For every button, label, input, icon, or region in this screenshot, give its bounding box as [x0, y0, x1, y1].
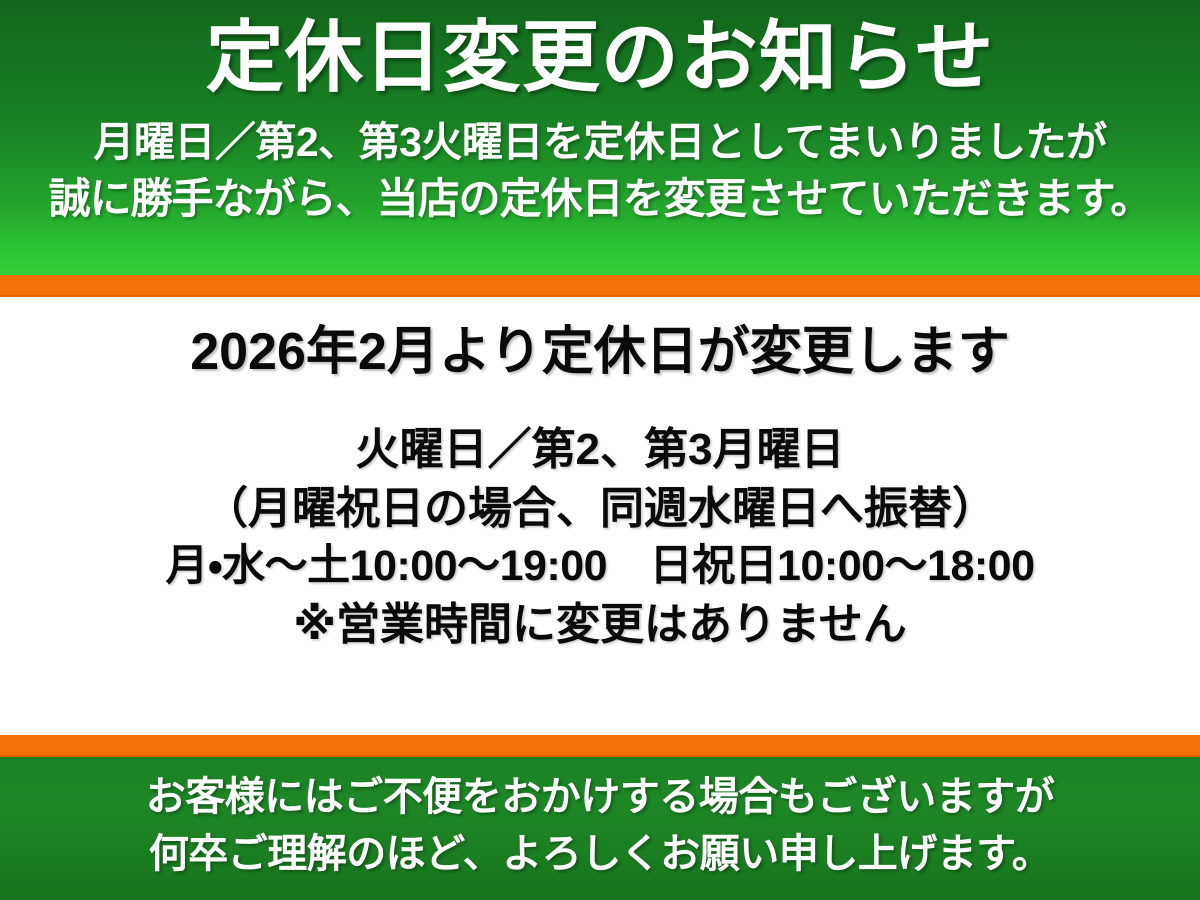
- main-details-block: 火曜日／第2、第3月曜日 （月曜祝日の場合、同週水曜日へ振替） 月・水〜土10:…: [0, 421, 1200, 654]
- orange-divider-bottom: [0, 735, 1200, 757]
- poster-title: 定休日変更のお知らせ: [0, 14, 1200, 101]
- poster-header-banner: 定休日変更のお知らせ 月曜日／第2、第3火曜日を定休日としてまいりましたが 誠に…: [0, 0, 1200, 275]
- main-content-section: 2026年2月より定休日が変更します 火曜日／第2、第3月曜日 （月曜祝日の場合…: [0, 297, 1200, 735]
- footer-line-2: 何卒ご理解のほど、よろしくお願い申し上げます。: [0, 826, 1200, 883]
- header-subtitle-line-1: 月曜日／第2、第3火曜日を定休日としてまいりましたが: [0, 115, 1200, 170]
- header-subtitle-line-2: 誠に勝手ながら、当店の定休日を変更させていただきます。: [0, 171, 1200, 228]
- new-closed-days-line: 火曜日／第2、第3月曜日: [0, 421, 1200, 480]
- orange-divider-top: [0, 275, 1200, 297]
- main-heading: 2026年2月より定休日が変更します: [0, 321, 1200, 383]
- poster-footer-banner: お客様にはご不便をおかけする場合もございますが 何卒ご理解のほど、よろしくお願い…: [0, 757, 1200, 900]
- footer-line-1: お客様にはご不便をおかけする場合もございますが: [0, 769, 1200, 826]
- business-hours-line: 月・水〜土10:00〜19:00 日祝日10:00〜18:00: [0, 538, 1200, 595]
- closed-days-change-notice-poster: 定休日変更のお知らせ 月曜日／第2、第3火曜日を定休日としてまいりましたが 誠に…: [0, 0, 1200, 900]
- hours-unchanged-note: ※営業時間に変更はありません: [0, 596, 1200, 655]
- header-subtitle-block: 月曜日／第2、第3火曜日を定休日としてまいりましたが 誠に勝手ながら、当店の定休…: [0, 115, 1200, 227]
- holiday-substitution-note: （月曜祝日の場合、同週水曜日へ振替）: [0, 480, 1200, 539]
